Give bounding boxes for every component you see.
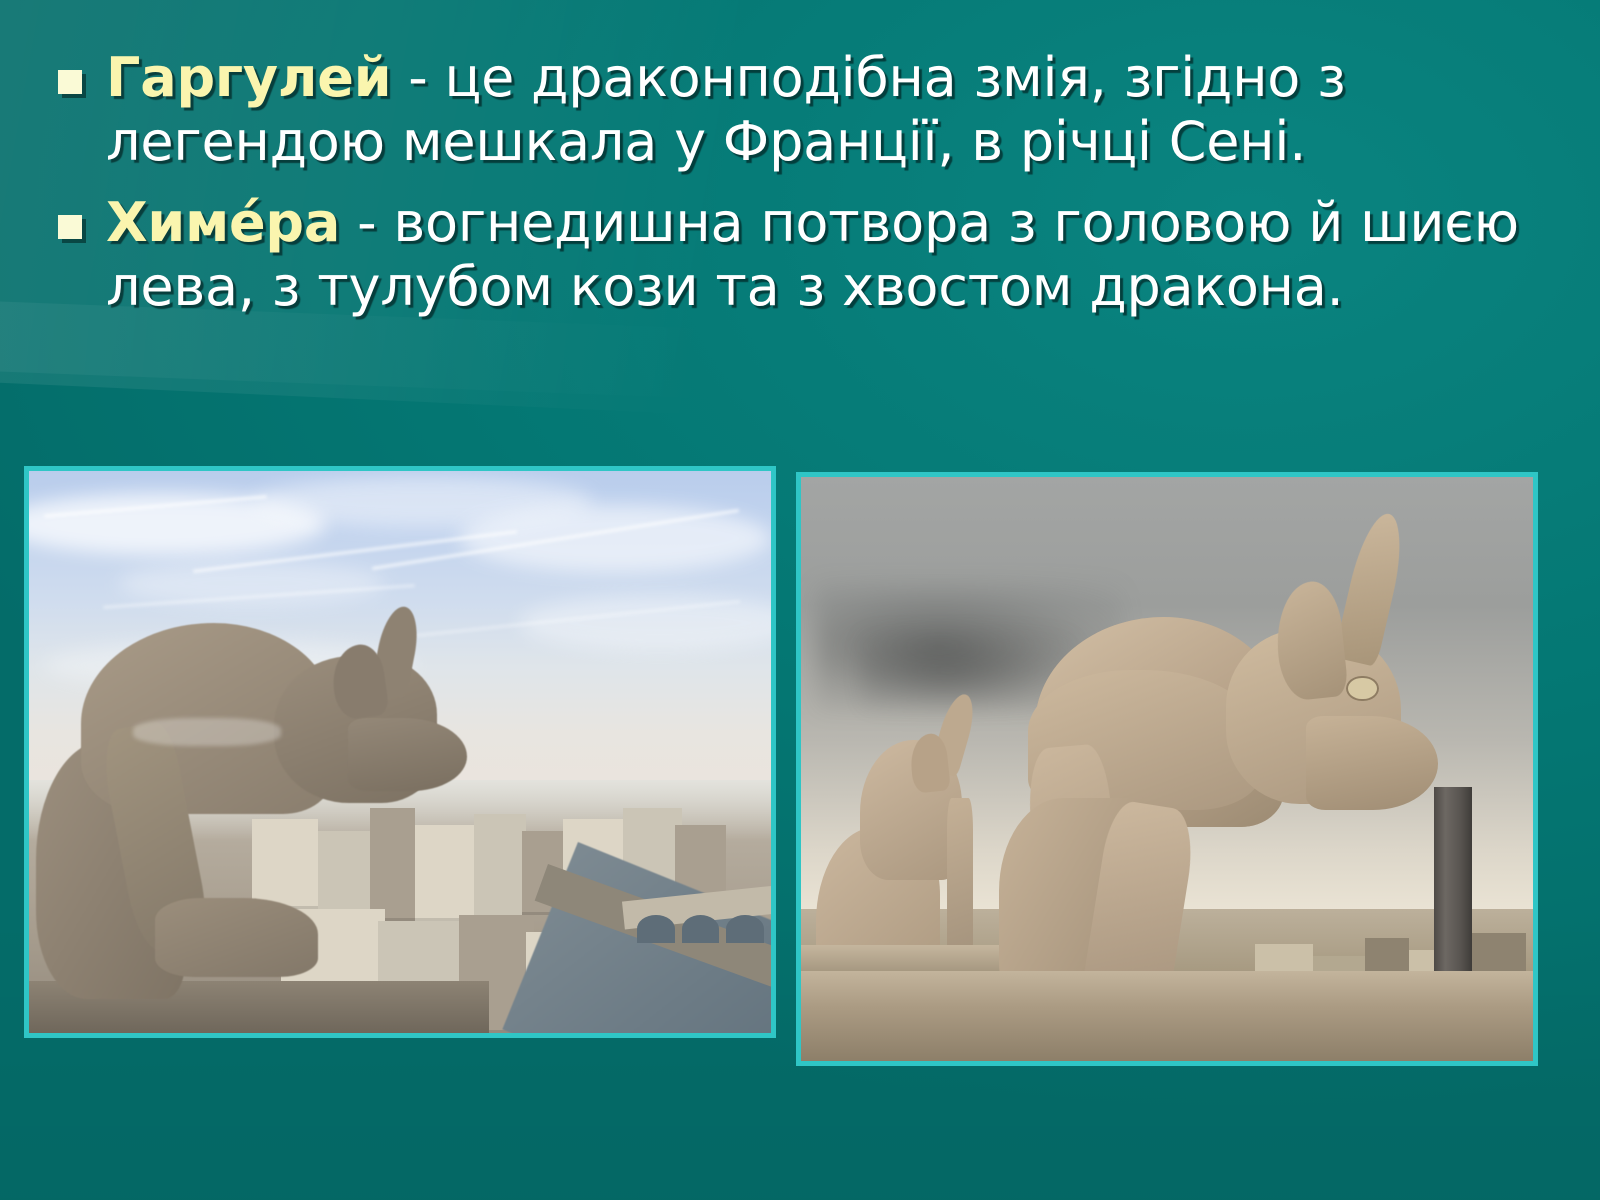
bridge-arch xyxy=(682,915,719,943)
bridge-arch xyxy=(726,915,763,943)
square-bullet-icon xyxy=(58,215,82,239)
building xyxy=(474,814,526,921)
term-label-1: Гаргулей xyxy=(106,46,391,109)
building xyxy=(318,831,370,915)
building xyxy=(370,808,415,920)
chimera-snout xyxy=(1306,716,1438,809)
gargoyle-hand xyxy=(155,898,318,977)
stone-parapet xyxy=(801,971,1533,1061)
photo-canvas-left xyxy=(29,471,771,1033)
bullet-text-1: Гаргулей - це драконподібна змія, згідно… xyxy=(106,46,1528,175)
cloud xyxy=(459,505,771,572)
cloud xyxy=(118,561,385,606)
gargoyle-over-paris-photo xyxy=(24,466,776,1038)
building xyxy=(252,819,319,909)
gargoyle-snout xyxy=(348,718,467,791)
presentation-slide: Гаргулей - це драконподібна змія, згідно… xyxy=(0,0,1600,1200)
chimera-eye xyxy=(1346,676,1378,702)
bullet-text-2: Химе́ра - вогнедишна потвора з головою й… xyxy=(106,191,1528,320)
bullet-list: Гаргулей - це драконподібна змія, згідно… xyxy=(0,46,1528,335)
two-chimeras-photo xyxy=(796,472,1538,1066)
term-label-2: Химе́ра xyxy=(106,191,340,254)
list-item: Гаргулей - це драконподібна змія, згідно… xyxy=(58,46,1528,175)
photo-canvas-right xyxy=(801,477,1533,1061)
list-item: Химе́ра - вогнедишна потвора з головою й… xyxy=(58,191,1528,320)
gargoyle-highlight xyxy=(133,718,281,746)
bridge-arch xyxy=(637,915,674,943)
building xyxy=(415,825,474,921)
square-bullet-icon xyxy=(58,70,82,94)
